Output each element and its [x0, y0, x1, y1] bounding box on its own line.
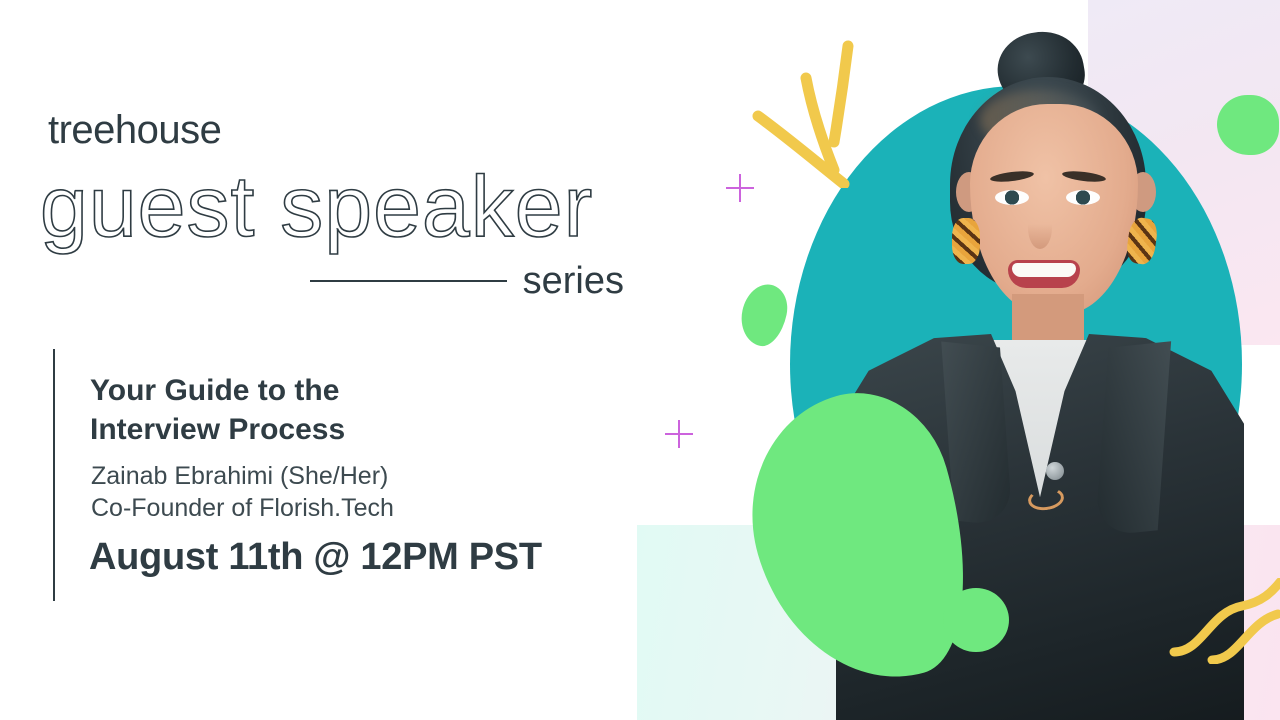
- event-date-time: August 11th @ 12PM PST: [89, 536, 542, 579]
- series-word: series: [523, 260, 624, 303]
- portrait-teeth: [1012, 263, 1076, 277]
- guest-speaker-promo-slide: treehouse guest speaker series Your Guid…: [0, 0, 1280, 720]
- talk-title: Your Guide to the Interview Process: [90, 371, 345, 449]
- brand-wordmark: treehouse: [48, 108, 221, 153]
- portrait-earring-left: [952, 218, 980, 264]
- series-divider-rule: [310, 280, 507, 282]
- portrait-mouth: [1008, 260, 1080, 288]
- series-subline: series: [310, 258, 624, 304]
- detail-accent-bar: [53, 349, 55, 601]
- portrait-eye-right: [1066, 190, 1100, 205]
- portrait-nose: [1028, 207, 1052, 249]
- plus-mark-icon: [665, 420, 693, 448]
- portrait-jacket-snap: [1046, 462, 1064, 480]
- green-blob-small-shape: [736, 280, 792, 350]
- squiggle-strokes-icon: [1168, 578, 1280, 664]
- speaker-name: Zainab Ebrahimi (She/Her): [91, 462, 388, 491]
- green-dot-shape: [943, 588, 1009, 652]
- sparkle-strokes-icon: [748, 38, 888, 188]
- speaker-role: Co-Founder of Florish.Tech: [91, 494, 394, 523]
- portrait-eye-left: [995, 190, 1029, 205]
- series-headline: guest speaker: [40, 158, 593, 257]
